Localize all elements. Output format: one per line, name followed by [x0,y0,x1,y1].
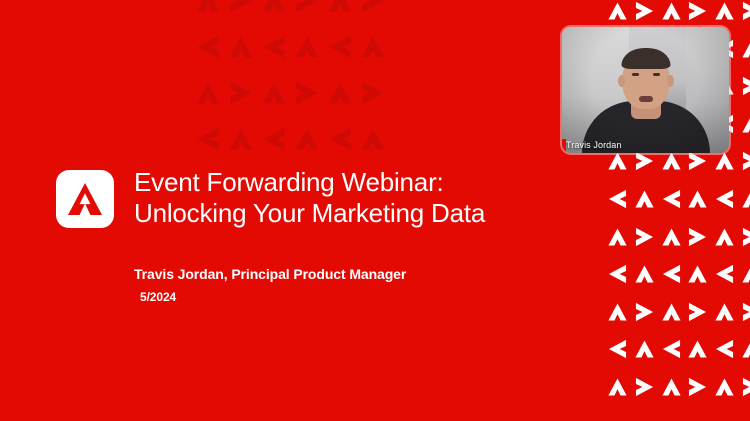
participant-name-label: Travis Jordan [566,140,622,150]
adobe-a-logo-icon [662,152,681,170]
adobe-a-logo-icon [743,2,750,21]
adobe-a-logo-icon [715,378,734,396]
adobe-a-logo-icon [608,303,627,321]
adobe-a-logo-icon [689,152,707,171]
adobe-a-logo-icon [635,2,653,21]
adobe-a-logo-icon [635,265,654,283]
presenter-name-title: Travis Jordan, Principal Product Manager [134,266,526,282]
adobe-a-logo-icon [361,128,385,150]
adobe-a-logo-icon [296,0,318,13]
adobe-a-logo-icon [662,340,680,359]
adobe-a-logo-icon [230,0,252,13]
adobe-a-logo-icon [716,340,734,359]
adobe-a-logo-icon [609,340,627,359]
adobe-a-logo-icon [608,378,627,396]
adobe-a-logo-icon [361,36,385,58]
adobe-a-logo-icon [715,152,734,170]
adobe-a-logo-icon [742,265,750,283]
adobe-a-logo-icon [635,340,654,358]
page-title-line-1: Event Forwarding Webinar: [134,167,485,198]
adobe-a-logo-icon [230,81,252,105]
adobe-a-logo-icon [635,190,654,208]
adobe-a-logo-icon [229,36,253,58]
adobe-a-logo-icon [716,265,734,284]
adobe-a-logo-icon [662,265,680,284]
adobe-a-logo-icon [715,303,734,321]
adobe-a-logo-icon [716,190,734,209]
adobe-a-logo-icon [743,152,750,171]
adobe-a-logo-icon [328,0,352,12]
adobe-a-logo-icon [328,82,352,104]
adobe-a-logo-icon [329,35,351,59]
adobe-a-logo-icon [742,115,750,133]
adobe-a-logo-icon [688,265,707,283]
adobe-a-logo-icon [608,152,627,170]
adobe-a-logo-icon [662,190,680,209]
adobe-a-logo-icon [296,81,318,105]
adobe-a-logo-icon [662,228,681,246]
adobe-a-logo-icon [608,228,627,246]
adobe-a-logo-icon [689,227,707,246]
adobe-a-logo-icon [263,127,285,151]
adobe-a-logo-icon [635,152,653,171]
adobe-a-logo-icon [743,77,750,96]
video-vignette [562,27,729,153]
adobe-a-logo-icon [362,81,384,105]
adobe-a-logo-icon [362,0,384,13]
adobe-a-logo-icon [609,190,627,209]
logo-title-row: Event Forwarding Webinar: Unlocking Your… [56,165,526,229]
adobe-a-logo-icon [742,340,750,358]
adobe-a-logo-icon [196,82,220,104]
adobe-a-logo-icon [262,0,286,12]
adobe-a-logo-icon [609,265,627,284]
adobe-a-logo-icon [197,35,219,59]
adobe-a-logo-icon [635,302,653,321]
adobe-a-logo-icon [262,82,286,104]
webinar-slide: Event Forwarding Webinar: Unlocking Your… [0,0,750,421]
adobe-a-logo-icon [688,340,707,358]
adobe-a-logo-icon [743,378,750,397]
background-ghost-pattern [196,0,376,155]
adobe-a-logo-icon [662,378,681,396]
adobe-a-logo-icon [197,127,219,151]
title-block: Event Forwarding Webinar: Unlocking Your… [134,165,485,229]
adobe-a-logo-icon [689,302,707,321]
adobe-a-logo-icon [688,190,707,208]
adobe-a-logo-icon [689,2,707,21]
slide-date: 5/2024 [140,290,526,304]
adobe-a-logo-icon [742,190,750,208]
adobe-a-logo-icon [196,0,220,12]
adobe-a-logo-icon [263,35,285,59]
adobe-a-logo-icon [229,128,253,150]
adobe-a-logo-icon [662,303,681,321]
adobe-a-logo-icon [608,2,627,20]
adobe-a-logo-icon [662,2,681,20]
adobe-a-logo-icon [715,228,734,246]
adobe-a-logo-icon [742,40,750,58]
adobe-a-logo-icon [635,378,653,397]
adobe-a-logo-icon [689,378,707,397]
adobe-a-logo-icon [329,127,351,151]
adobe-a-logo-icon [295,128,319,150]
adobe-a-logo-icon [715,2,734,20]
page-title-line-2: Unlocking Your Marketing Data [134,198,485,229]
adobe-a-logo-icon [635,227,653,246]
adobe-a-logo-icon [743,227,750,246]
adobe-a-logo-icon [56,170,114,228]
participant-video-tile[interactable]: Travis Jordan [562,27,729,153]
adobe-a-logo-icon [295,36,319,58]
adobe-a-logo-icon [743,302,750,321]
slide-content: Event Forwarding Webinar: Unlocking Your… [56,165,526,304]
